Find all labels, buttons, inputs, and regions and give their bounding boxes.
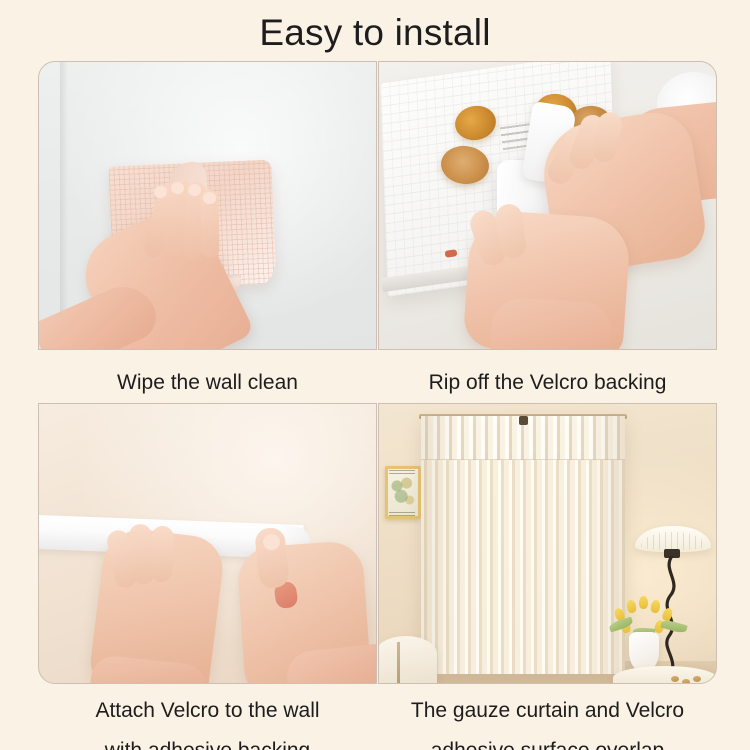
- step-card-3: Attach Velcro to the wall with adhesive …: [38, 403, 377, 750]
- step-2-caption: Rip off the Velcro backing: [378, 350, 717, 403]
- wall-corner-edge: [60, 62, 68, 349]
- step-3-caption-line-2: with adhesive backing: [38, 740, 377, 750]
- curtain-clip: [519, 416, 528, 425]
- step-card-1: Wipe the wall clean: [38, 61, 377, 403]
- fingernail: [203, 192, 216, 204]
- step-4-photo: [378, 403, 717, 684]
- step-3-caption: Attach Velcro to the wall with adhesive …: [38, 684, 377, 750]
- finger: [150, 526, 174, 583]
- poster-artwork: [388, 469, 418, 516]
- thumbnail: [263, 534, 280, 550]
- fingernail: [188, 184, 201, 196]
- curtain-shading: [421, 416, 625, 674]
- step-3-caption-line-1: Attach Velcro to the wall: [95, 699, 319, 722]
- decor-nut: [671, 676, 679, 682]
- steps-grid: Wipe the wall clean: [38, 61, 717, 750]
- step-4-caption: The gauze curtain and Velcro adhesive su…: [378, 684, 717, 750]
- step-1-caption: Wipe the wall clean: [38, 350, 377, 403]
- step-4-caption-line-2: adhesive surface overlap: [378, 740, 717, 750]
- left-side-table: [378, 636, 437, 684]
- decor-nut: [693, 676, 701, 682]
- step-4-caption-line-1: The gauze curtain and Velcro: [411, 699, 684, 722]
- step-1-photo: [38, 61, 377, 350]
- step-card-2: Rip off the Velcro backing: [378, 61, 717, 403]
- framed-botanical-poster: [385, 466, 421, 519]
- step-3-photo: [38, 403, 377, 684]
- round-side-table: [613, 666, 717, 684]
- leaf: [660, 619, 687, 635]
- decor-nut: [682, 679, 690, 684]
- tulip-flower: [650, 599, 661, 613]
- step-2-photo: [378, 61, 717, 350]
- fingernail: [171, 182, 184, 194]
- infographic-page: Easy to install Wipe the wall clean: [0, 0, 750, 750]
- tulip-flower: [639, 596, 648, 609]
- page-title: Easy to install: [0, 0, 750, 55]
- step-card-4: The gauze curtain and Velcro adhesive su…: [378, 403, 717, 750]
- left-wrist: [489, 297, 612, 350]
- tulip-flower: [626, 599, 637, 613]
- fingernail: [154, 186, 167, 198]
